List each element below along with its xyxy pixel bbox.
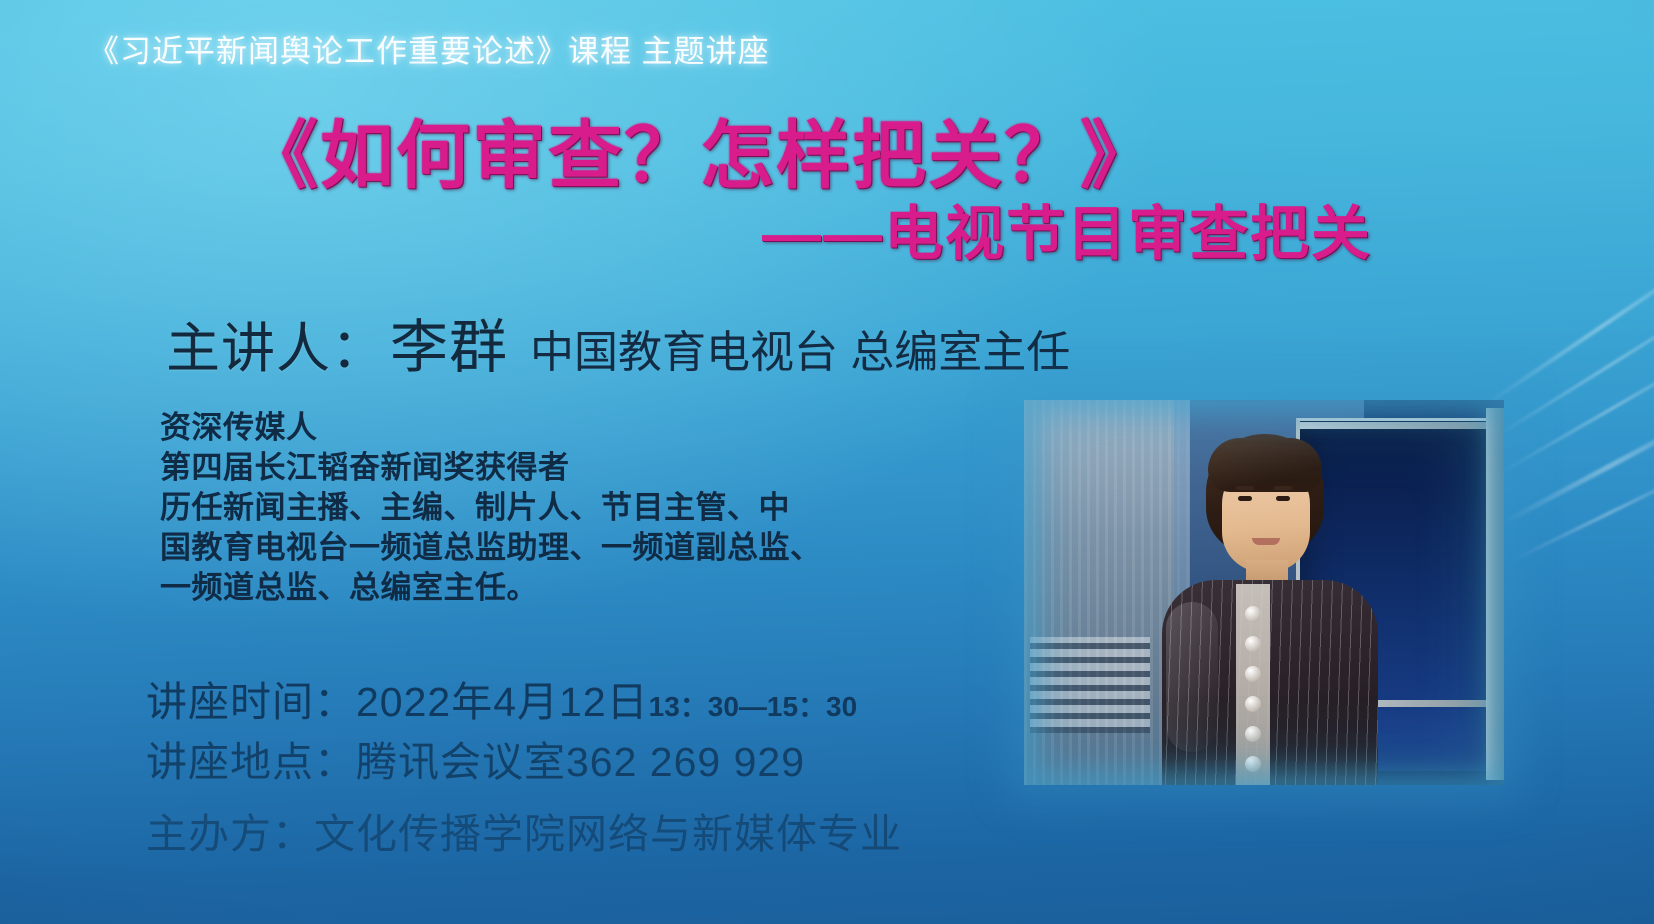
course-series-label: 《习近平新闻舆论工作重要论述》课程 主题讲座	[88, 26, 770, 71]
light-streak-icon	[1509, 464, 1654, 563]
lecture-place-value: 腾讯会议室362 269 929	[356, 739, 805, 785]
jacket-button	[1245, 726, 1261, 742]
jacket-button	[1245, 606, 1261, 622]
lecture-time-hours: 13：30—15：30	[649, 691, 858, 722]
studio-trim-bar	[1300, 422, 1486, 429]
lecture-poster-slide: 《习近平新闻舆论工作重要论述》课程 主题讲座 《如何审查？怎样把关？》 ——电视…	[0, 0, 1654, 924]
lecture-host-label: 主办方：	[146, 811, 314, 857]
speaker-organization: 中国教育电视台 总编室主任	[530, 316, 1070, 380]
lecture-host-value: 文化传播学院网络与新媒体专业	[314, 811, 902, 857]
lecture-time-date: 2022年4月12日	[356, 679, 649, 725]
speaker-biography: 资深传媒人 第四届长江韬奋新闻奖获得者 历任新闻主播、主编、制片人、节目主管、中…	[160, 408, 950, 608]
lecture-place-row: 讲座地点：腾讯会议室362 269 929	[146, 728, 805, 788]
speaker-row: 主讲人： 李群 中国教育电视台 总编室主任	[166, 300, 1070, 384]
speaker-label: 主讲人：	[166, 304, 386, 383]
jacket-button	[1245, 636, 1261, 652]
shoulder-highlight	[1166, 602, 1218, 752]
eyebrow-left	[1236, 486, 1254, 490]
avatar	[1144, 434, 1394, 785]
eye-right	[1276, 496, 1290, 501]
lecture-time-label: 讲座时间：	[146, 679, 356, 725]
speaker-portrait-photo	[1024, 400, 1504, 785]
bio-line: 国教育电视台一频道总监助理、一频道副总监、	[160, 528, 950, 568]
bio-line: 资深传媒人	[160, 408, 950, 448]
eye-left	[1238, 496, 1252, 501]
lecture-host-row: 主办方：文化传播学院网络与新媒体专业	[146, 800, 902, 860]
speaker-name: 李群	[390, 300, 508, 384]
studio-frame-post	[1486, 408, 1504, 780]
jacket-button	[1245, 756, 1261, 772]
page-subtitle: ——电视节目审查把关	[0, 186, 1372, 271]
jacket-button	[1245, 666, 1261, 682]
light-streak-icon	[1477, 241, 1654, 412]
lecture-place-label: 讲座地点：	[146, 739, 356, 785]
hair-front	[1208, 438, 1322, 492]
bio-line: 历任新闻主播、主编、制片人、节目主管、中	[160, 488, 950, 528]
light-streak-icon	[1495, 339, 1654, 477]
bio-line: 第四届长江韬奋新闻奖获得者	[160, 448, 950, 488]
light-streak-icon	[1499, 405, 1654, 527]
light-streak-icon	[1487, 287, 1654, 443]
jacket-button	[1245, 696, 1261, 712]
lecture-time-row: 讲座时间：2022年4月12日13：30—15：30	[146, 668, 857, 728]
eyebrow-right	[1274, 486, 1292, 490]
bio-line: 一频道总监、总编室主任。	[160, 568, 950, 608]
mouth	[1252, 538, 1280, 545]
